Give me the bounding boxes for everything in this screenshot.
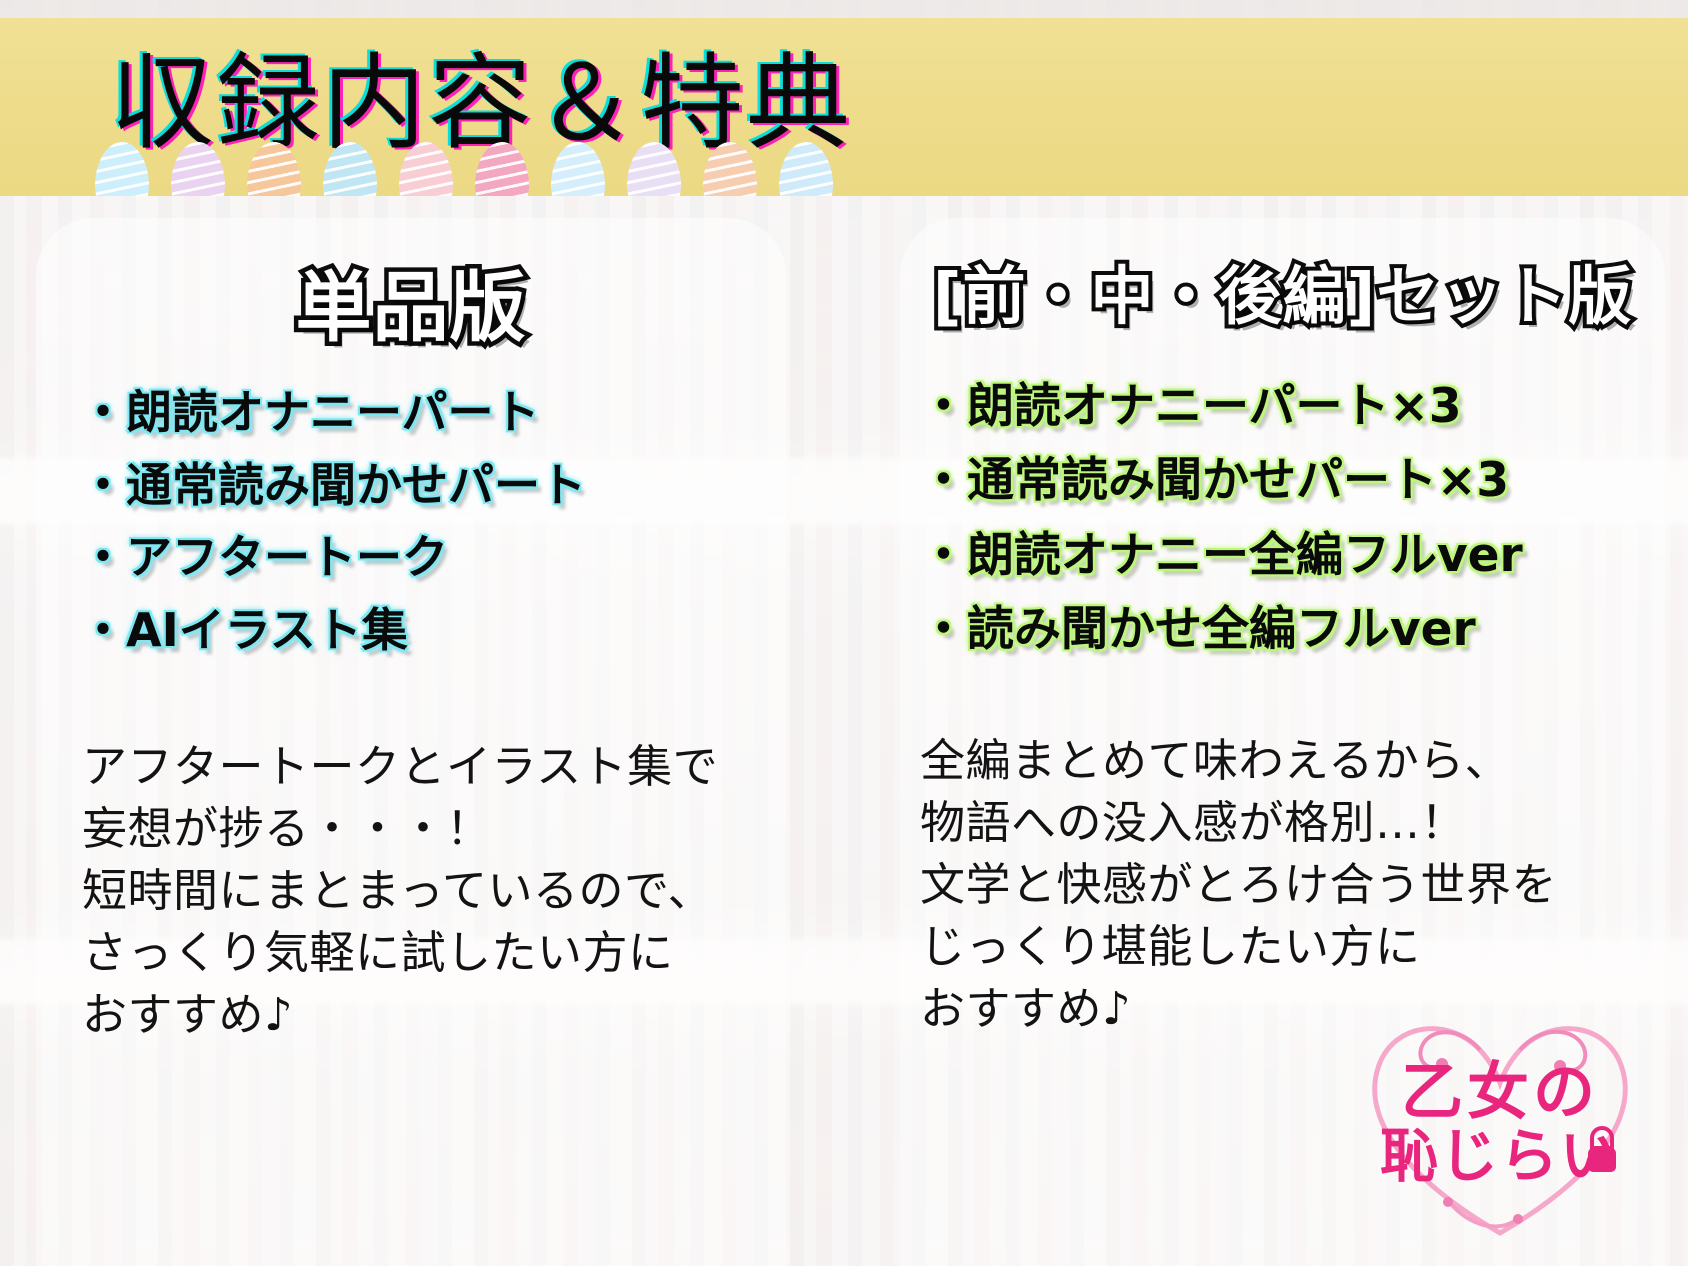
feature-list-set: ・朗読オナニーパート×3 ・通常読み聞かせパート×3 ・朗読オナニー全編フルve… bbox=[920, 370, 1655, 667]
list-item: ・通常読み聞かせパート×3 bbox=[920, 444, 1655, 518]
egg-ornament bbox=[323, 142, 377, 196]
list-item: ・読み聞かせ全編フルver bbox=[920, 593, 1655, 667]
egg-ornament bbox=[247, 142, 301, 196]
promo-slide: 収録内容＆特典 単品版 ・朗読オナニーパート ・通常読み聞かせパート ・アフター… bbox=[0, 0, 1688, 1266]
brand-logo: 乙女の 恥じらい bbox=[1330, 988, 1670, 1258]
list-item: ・朗読オナニー全編フルver bbox=[920, 519, 1655, 593]
list-item: ・朗読オナニーパート bbox=[80, 376, 776, 449]
egg-ornament-row bbox=[95, 142, 833, 196]
plan-title-single: 単品版 bbox=[36, 246, 786, 356]
egg-ornament bbox=[779, 142, 833, 196]
list-item: ・アフタートーク bbox=[80, 521, 776, 594]
list-item: ・通常読み聞かせパート bbox=[80, 449, 776, 522]
egg-ornament bbox=[399, 142, 453, 196]
egg-ornament bbox=[627, 142, 681, 196]
egg-ornament bbox=[95, 142, 149, 196]
egg-ornament bbox=[475, 142, 529, 196]
plan-card-single: 単品版 ・朗読オナニーパート ・通常読み聞かせパート ・アフタートーク ・AIイ… bbox=[36, 218, 786, 1266]
top-strip bbox=[0, 0, 1688, 18]
header-banner: 収録内容＆特典 bbox=[0, 18, 1688, 196]
heart-swirl-ornament-icon bbox=[1330, 988, 1670, 1258]
list-item: ・AIイラスト集 bbox=[80, 594, 776, 667]
egg-ornament bbox=[703, 142, 757, 196]
list-item: ・朗読オナニーパート×3 bbox=[920, 370, 1655, 444]
plan-title-set: [前・中・後編]セット版 bbox=[900, 246, 1665, 337]
egg-ornament bbox=[551, 142, 605, 196]
feature-list-single: ・朗読オナニーパート ・通常読み聞かせパート ・アフタートーク ・AIイラスト集 bbox=[80, 376, 776, 667]
egg-ornament bbox=[171, 142, 225, 196]
plan-description-single: アフタートークとイラスト集で 妄想が捗る・・・！ 短時間にまとまっているので、 … bbox=[82, 736, 778, 1046]
